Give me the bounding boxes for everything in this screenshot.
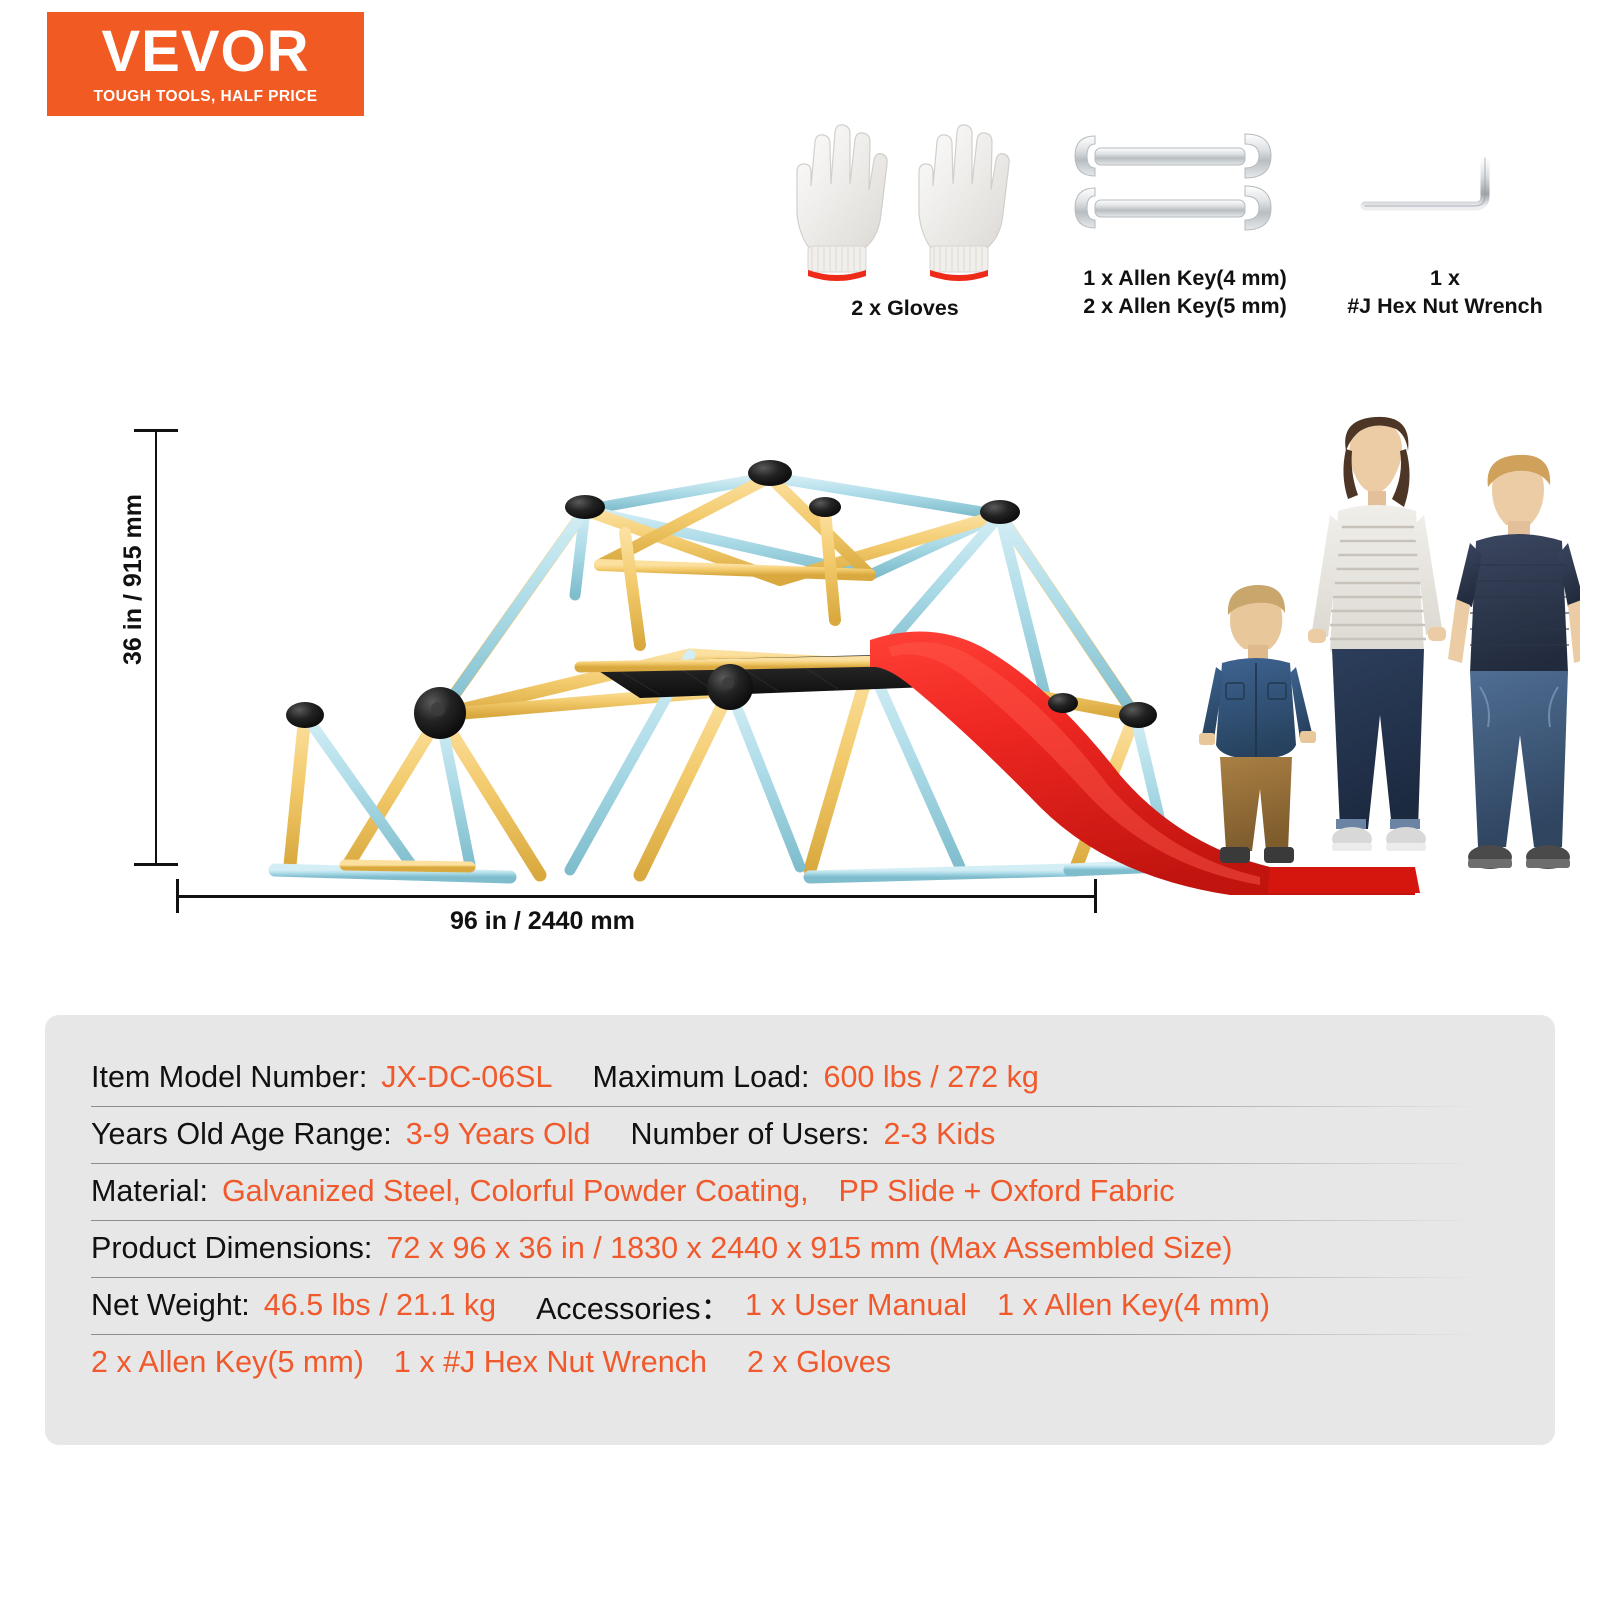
spec-value-number-of-users: 2-3 Kids (884, 1117, 996, 1152)
spec-label-age-range: Years Old Age Range: (91, 1117, 392, 1152)
child-toddler (1199, 585, 1316, 863)
spec-value-accessory-allen-5mm: 2 x Allen Key(5 mm) (91, 1345, 364, 1380)
climbing-dome-illustration (170, 415, 1580, 895)
allen-key-caption-line1: 1 x Allen Key(4 mm) (1040, 265, 1330, 293)
spec-row-age-users: Years Old Age Range: 3-9 Years Old Numbe… (45, 1106, 1555, 1163)
spec-row-dimensions: Product Dimensions: 72 x 96 x 36 in / 18… (45, 1220, 1555, 1277)
specifications-panel: Item Model Number: JX-DC-06SL Maximum Lo… (45, 1015, 1555, 1445)
child-girl (1308, 417, 1446, 851)
width-dimension-line (177, 895, 1097, 898)
spec-value-product-dimensions: 72 x 96 x 36 in / 1830 x 2440 x 915 mm (… (386, 1231, 1232, 1266)
spec-value-item-model-number: JX-DC-06SL (381, 1060, 552, 1095)
allen-key-caption-line2: 2 x Allen Key(5 mm) (1040, 293, 1330, 321)
brand-tagline: TOUGH TOOLS, HALF PRICE (94, 88, 318, 106)
accessory-allen-keys: 1 x Allen Key(4 mm) 2 x Allen Key(5 mm) (1040, 110, 1330, 321)
width-dimension-label: 96 in / 2440 mm (450, 907, 635, 936)
spec-label-net-weight: Net Weight: (91, 1288, 250, 1323)
spec-label-accessories: Accessories： (536, 1284, 731, 1328)
child-boy (1448, 455, 1580, 869)
hex-key-icon (1320, 110, 1570, 265)
brand-name: VEVOR (101, 23, 309, 81)
spec-value-age-range: 3-9 Years Old (406, 1117, 591, 1152)
spec-row-accessories-cont: 2 x Allen Key(5 mm) 1 x #J Hex Nut Wrenc… (45, 1334, 1555, 1391)
spec-value-accessory-hex-wrench: 1 x #J Hex Nut Wrench (394, 1345, 707, 1380)
spec-row-model-load: Item Model Number: JX-DC-06SL Maximum Lo… (45, 1049, 1555, 1106)
product-photo: 36 in / 915 mm 96 in / 2440 mm (120, 395, 1580, 955)
gloves-caption: 2 x Gloves (770, 295, 1040, 323)
spec-value-net-weight: 46.5 lbs / 21.1 kg (264, 1288, 496, 1323)
spec-value-maximum-load: 600 lbs / 272 kg (823, 1060, 1038, 1095)
spec-value-accessory-manual: 1 x User Manual (745, 1288, 967, 1323)
accessories-strip: 2 x Gloves (760, 110, 1560, 325)
hex-wrench-caption-line1: 1 x (1320, 265, 1570, 293)
product-infographic: VEVOR TOUGH TOOLS, HALF PRICE (0, 0, 1600, 1600)
accessory-gloves: 2 x Gloves (770, 110, 1040, 323)
spec-value-material: Galvanized Steel, Colorful Powder Coatin… (222, 1174, 809, 1209)
height-dimension-line (155, 430, 157, 865)
spec-label-item-model-number: Item Model Number: (91, 1060, 367, 1095)
spec-value-accessory-gloves: 2 x Gloves (747, 1345, 891, 1380)
accessory-hex-nut-wrench: 1 x #J Hex Nut Wrench (1320, 110, 1570, 321)
spec-value-accessory-allen-4mm: 1 x Allen Key(4 mm) (997, 1288, 1270, 1323)
height-dimension-label: 36 in / 915 mm (119, 494, 148, 665)
spec-label-number-of-users: Number of Users: (631, 1117, 870, 1152)
gloves-icon (770, 110, 1040, 295)
open-wrench-icon (1040, 110, 1330, 265)
spec-row-weight-accessories: Net Weight: 46.5 lbs / 21.1 kg Accessori… (45, 1277, 1555, 1334)
spec-label-product-dimensions: Product Dimensions: (91, 1231, 372, 1266)
spec-label-material: Material: (91, 1174, 208, 1209)
spec-value-material-2: PP Slide + Oxford Fabric (839, 1174, 1175, 1209)
spec-row-material: Material: Galvanized Steel, Colorful Pow… (45, 1163, 1555, 1220)
hex-wrench-caption-line2: #J Hex Nut Wrench (1320, 293, 1570, 321)
vevor-logo: VEVOR TOUGH TOOLS, HALF PRICE (47, 12, 364, 116)
spec-label-maximum-load: Maximum Load: (593, 1060, 810, 1095)
